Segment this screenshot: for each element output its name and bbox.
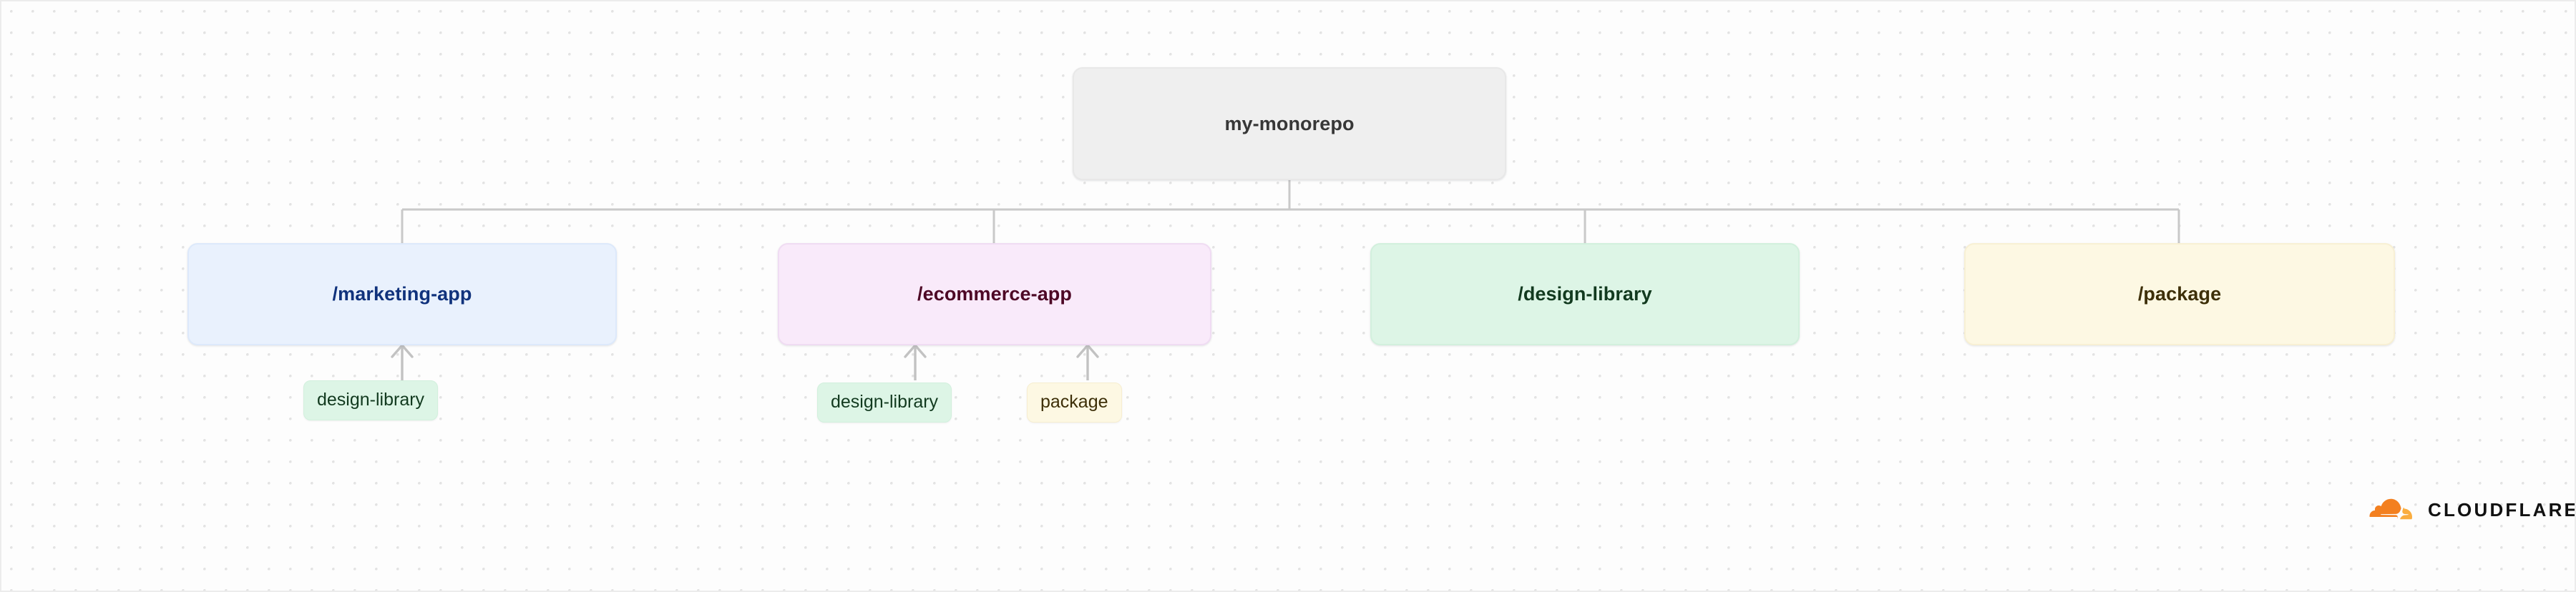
node-my-monorepo[interactable]: my-monorepo xyxy=(1073,67,1506,180)
node-label: /package xyxy=(2138,282,2221,305)
chip-label: design-library xyxy=(831,393,938,413)
chip-label: package xyxy=(1040,393,1108,413)
chip-ecommerce-design-library[interactable]: design-library xyxy=(817,383,952,423)
node-design-library[interactable]: /design-library xyxy=(1370,243,1800,345)
cloudflare-wordmark: CLOUDFLARE xyxy=(2428,500,2576,519)
chip-marketing-design-library[interactable]: design-library xyxy=(303,380,438,420)
node-label: /ecommerce-app xyxy=(917,282,1072,305)
node-label: /marketing-app xyxy=(333,282,472,305)
arrowhead-marketing-design-library xyxy=(392,345,412,357)
node-label: /design-library xyxy=(1518,282,1652,305)
arrowhead-ecommerce-design-library xyxy=(905,345,925,357)
node-marketing-app[interactable]: /marketing-app xyxy=(187,243,617,345)
node-ecommerce-app[interactable]: /ecommerce-app xyxy=(778,243,1211,345)
diagram-canvas: my-monorepo /marketing-app /ecommerce-ap… xyxy=(0,0,2576,592)
chip-label: design-library xyxy=(317,390,424,410)
chip-ecommerce-package[interactable]: package xyxy=(1027,383,1122,423)
cloudflare-cloud-icon xyxy=(2365,498,2418,522)
cloudflare-logo: CLOUDFLARE xyxy=(2365,498,2576,522)
node-package[interactable]: /package xyxy=(1964,243,2395,345)
arrowhead-ecommerce-package xyxy=(1078,345,1098,357)
node-label: my-monorepo xyxy=(1224,112,1354,135)
